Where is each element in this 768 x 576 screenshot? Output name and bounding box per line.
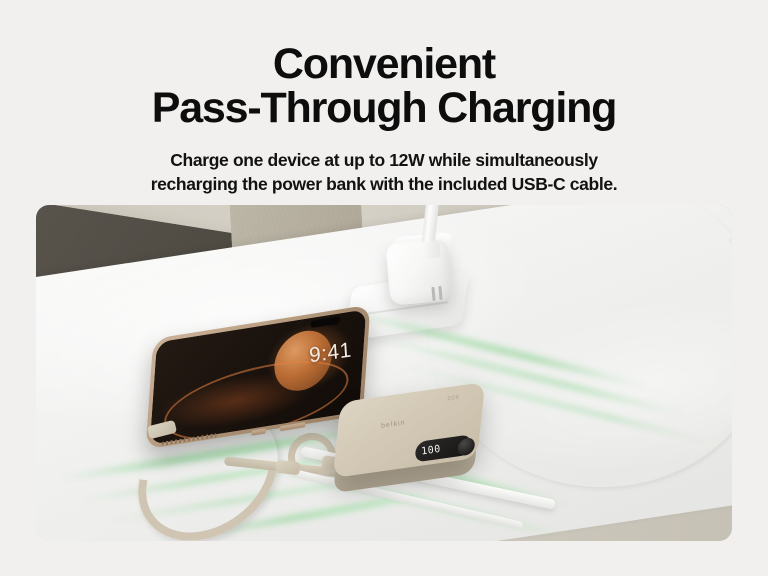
cable-connector-mid [275, 460, 300, 476]
battery-percent-value: 100 [421, 443, 441, 457]
marketing-text-block: Convenient Pass-Through Charging Charge … [0, 0, 768, 196]
charger-cable-connector [420, 240, 440, 259]
subheadline-line-1: Charge one device at up to 12W while sim… [0, 148, 768, 172]
headline-line-2: Pass-Through Charging [0, 86, 768, 130]
lockscreen-clock: 9:41 [309, 338, 353, 368]
belkin-logo: belkin [381, 419, 406, 429]
subheadline-line-2: recharging the power bank with the inclu… [0, 172, 768, 196]
headline-line-1: Convenient [0, 42, 768, 86]
page-subtitle: Charge one device at up to 12W while sim… [0, 130, 768, 196]
capacity-mark: 20K [447, 395, 460, 403]
page-title: Convenient Pass-Through Charging [0, 0, 768, 130]
product-photo: 9:41 belkin 20K 100 [36, 205, 732, 541]
